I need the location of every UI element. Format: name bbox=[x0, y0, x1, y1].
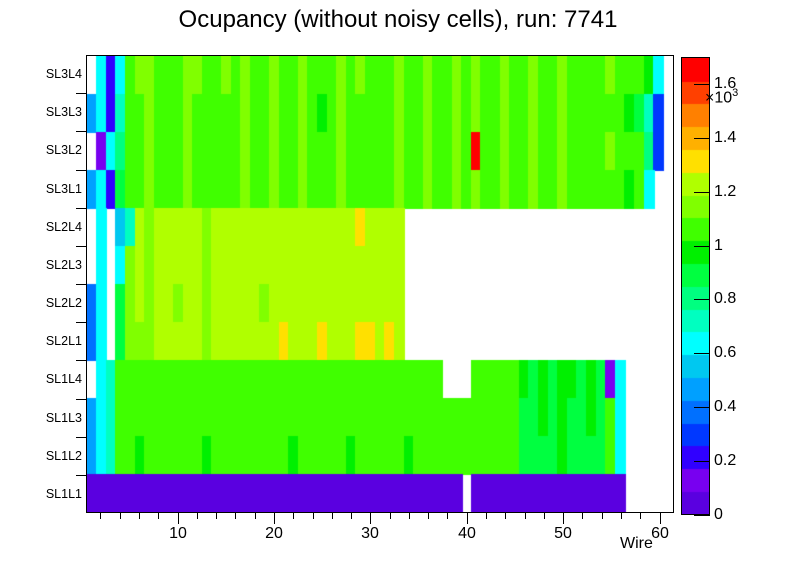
colorbar-tick-label: 0.4 bbox=[714, 398, 736, 416]
colorbar-tick bbox=[694, 192, 710, 193]
colorbar-tick bbox=[694, 515, 710, 516]
x-axis-minor-tick bbox=[216, 513, 217, 519]
colorbar-tick-label: 1.4 bbox=[714, 129, 736, 147]
x-axis-minor-tick bbox=[351, 513, 352, 519]
colorbar-tick-label: 1.6 bbox=[714, 75, 736, 93]
x-axis-major-tick bbox=[274, 513, 275, 524]
y-axis-label-sl3l1: SL3L1 bbox=[30, 182, 82, 196]
page-title: Ocupancy (without noisy cells), run: 774… bbox=[0, 6, 796, 34]
root-canvas: Ocupancy (without noisy cells), run: 774… bbox=[0, 0, 796, 572]
y-axis-tick bbox=[76, 399, 86, 400]
colorbar-tick bbox=[694, 353, 710, 354]
x-axis-tick-label: 30 bbox=[361, 525, 379, 543]
y-axis-label-sl2l3: SL2L3 bbox=[30, 258, 82, 272]
x-axis-minor-tick bbox=[390, 513, 391, 519]
x-axis-minor-tick bbox=[582, 513, 583, 519]
x-axis-minor-tick bbox=[235, 513, 236, 519]
y-axis-label-sl2l4: SL2L4 bbox=[30, 220, 82, 234]
y-axis-label-sl3l2: SL3L2 bbox=[30, 143, 82, 157]
heatmap-plot-area[interactable] bbox=[86, 55, 674, 513]
y-axis-tick bbox=[76, 93, 86, 94]
x-axis-minor-tick bbox=[505, 513, 506, 519]
x-axis-tick-label: 40 bbox=[458, 525, 476, 543]
y-axis-label-sl3l3: SL3L3 bbox=[30, 105, 82, 119]
x-axis-major-tick bbox=[563, 513, 564, 524]
y-axis-label-sl3l4: SL3L4 bbox=[30, 67, 82, 81]
y-axis-tick bbox=[76, 475, 86, 476]
x-axis-tick-label: 60 bbox=[651, 525, 669, 543]
colorbar-gradient bbox=[681, 57, 710, 515]
x-axis-minor-tick bbox=[486, 513, 487, 519]
x-axis-minor-tick bbox=[640, 513, 641, 519]
y-axis: SL3L4SL3L3SL3L2SL3L1SL2L4SL2L3SL2L2SL2L1… bbox=[24, 55, 82, 513]
colorbar-tick bbox=[694, 299, 710, 300]
y-axis-label-sl2l2: SL2L2 bbox=[30, 296, 82, 310]
x-axis-major-tick bbox=[178, 513, 179, 524]
x-axis-minor-tick bbox=[447, 513, 448, 519]
y-axis-tick bbox=[76, 131, 86, 132]
y-axis-label-sl1l2: SL1L2 bbox=[30, 449, 82, 463]
colorbar-tick bbox=[694, 246, 710, 247]
x-axis-minor-tick bbox=[313, 513, 314, 519]
y-axis-label-sl2l1: SL2L1 bbox=[30, 334, 82, 348]
colorbar-tick-label: 1.2 bbox=[714, 183, 736, 201]
y-axis-label-sl1l4: SL1L4 bbox=[30, 372, 82, 386]
y-axis-tick bbox=[76, 322, 86, 323]
y-axis-tick bbox=[76, 437, 86, 438]
y-axis-label-sl1l1: SL1L1 bbox=[30, 487, 82, 501]
x-axis-minor-tick bbox=[409, 513, 410, 519]
x-axis-tick-label: 50 bbox=[554, 525, 572, 543]
colorbar-tick bbox=[694, 84, 710, 85]
y-axis-tick bbox=[76, 284, 86, 285]
x-axis-tick-label: 20 bbox=[265, 525, 283, 543]
x-axis-major-tick bbox=[467, 513, 468, 524]
y-axis-tick bbox=[76, 208, 86, 209]
colorbar: ×103 00.20.40.60.811.21.41.6 bbox=[681, 57, 791, 515]
x-axis-major-tick bbox=[660, 513, 661, 524]
x-axis-minor-tick bbox=[525, 513, 526, 519]
x-axis-minor-tick bbox=[139, 513, 140, 519]
colorbar-canvas bbox=[682, 58, 709, 514]
colorbar-tick bbox=[694, 407, 710, 408]
y-axis-tick bbox=[76, 170, 86, 171]
x-axis-minor-tick bbox=[621, 513, 622, 519]
x-axis-tick-label: 10 bbox=[169, 525, 187, 543]
colorbar-tick-label: 0 bbox=[714, 506, 723, 524]
colorbar-tick bbox=[694, 461, 710, 462]
colorbar-tick-label: 0.2 bbox=[714, 452, 736, 470]
x-axis-major-tick bbox=[370, 513, 371, 524]
x-axis-minor-tick bbox=[120, 513, 121, 519]
colorbar-tick-label: 0.6 bbox=[714, 344, 736, 362]
x-axis-minor-tick bbox=[100, 513, 101, 519]
y-axis-label-sl1l3: SL1L3 bbox=[30, 411, 82, 425]
x-axis-minor-tick bbox=[197, 513, 198, 519]
heatmap-canvas[interactable] bbox=[87, 56, 673, 512]
x-axis-minor-tick bbox=[293, 513, 294, 519]
x-axis-minor-tick bbox=[428, 513, 429, 519]
y-axis-tick bbox=[76, 246, 86, 247]
x-axis-minor-tick bbox=[602, 513, 603, 519]
colorbar-tick-label: 1 bbox=[714, 237, 723, 255]
x-axis-minor-tick bbox=[544, 513, 545, 519]
x-axis-minor-tick bbox=[255, 513, 256, 519]
x-axis-title: Wire bbox=[620, 535, 653, 553]
x-axis-minor-tick bbox=[332, 513, 333, 519]
x-axis: 102030405060 bbox=[86, 513, 674, 561]
colorbar-tick bbox=[694, 138, 710, 139]
colorbar-tick-label: 0.8 bbox=[714, 290, 736, 308]
y-axis-tick bbox=[76, 360, 86, 361]
x-axis-minor-tick bbox=[158, 513, 159, 519]
